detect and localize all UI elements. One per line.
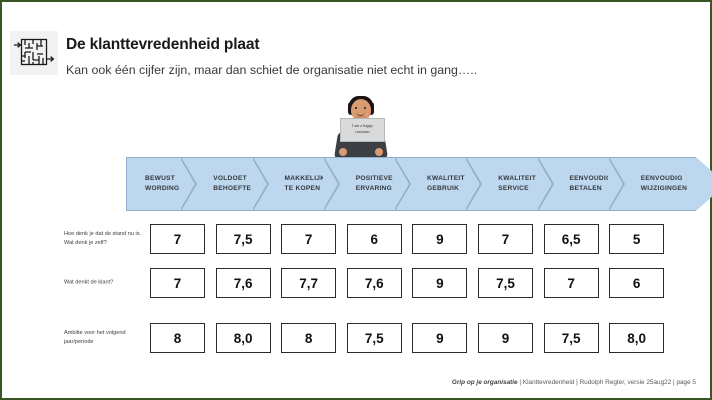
score-cell[interactable]: 7 bbox=[478, 224, 533, 254]
slide-footer: Grip op je organisatie | Klanttevredenhe… bbox=[452, 379, 696, 386]
journey-stage-2[interactable]: VOLDOET BEHOEFTE bbox=[197, 157, 268, 211]
journey-stage-label: EENVOUDIG WIJZIGINGEN bbox=[625, 174, 687, 194]
score-cell[interactable]: 8 bbox=[150, 323, 205, 353]
score-cell[interactable]: 7 bbox=[544, 268, 599, 298]
page-subtitle: Kan ook één cijfer zijn, maar dan schiet… bbox=[66, 63, 477, 77]
journey-stage-label: KWALITEIT SERVICE bbox=[482, 174, 536, 194]
score-cell[interactable]: 7,5 bbox=[216, 224, 271, 254]
score-cell[interactable]: 7 bbox=[281, 224, 336, 254]
score-cell[interactable]: 5 bbox=[609, 224, 664, 254]
photo-eye-right bbox=[364, 107, 366, 109]
score-row-label: Wat denkt de klant? bbox=[64, 278, 146, 287]
score-cell[interactable]: 6,5 bbox=[544, 224, 599, 254]
journey-stage-label: POSITIEVE ERVARING bbox=[340, 174, 393, 194]
score-cell[interactable]: 7,5 bbox=[478, 268, 533, 298]
score-cell[interactable]: 7,5 bbox=[347, 323, 402, 353]
journey-stage-4[interactable]: POSITIEVE ERVARING bbox=[340, 157, 411, 211]
journey-stage-label: VOLDOET BEHOEFTE bbox=[197, 174, 251, 194]
journey-stage-1[interactable]: BEWUST WORDING bbox=[126, 157, 197, 211]
band-arrow-tip bbox=[696, 157, 712, 211]
photo-hand-left bbox=[339, 148, 347, 156]
score-cell[interactable]: 8,0 bbox=[609, 323, 664, 353]
journey-stage-8[interactable]: EENVOUDIG WIJZIGINGEN bbox=[625, 157, 696, 211]
score-cell[interactable]: 7,6 bbox=[216, 268, 271, 298]
slide: De klanttevredenheid plaat Kan ook één c… bbox=[0, 0, 712, 400]
happy-customer-sign: I am a happy customer bbox=[340, 118, 385, 142]
score-row: Wat denkt de klant?77,67,77,697,576 bbox=[2, 268, 712, 298]
score-cell[interactable]: 7 bbox=[150, 268, 205, 298]
sign-line-2: customer bbox=[355, 130, 370, 136]
journey-stage-label: EENVOUDIG BETALEN bbox=[554, 174, 612, 194]
score-cell[interactable]: 7,6 bbox=[347, 268, 402, 298]
journey-stage-5[interactable]: KWALITEIT GEBRUIK bbox=[411, 157, 482, 211]
journey-stage-7[interactable]: EENVOUDIG BETALEN bbox=[554, 157, 625, 211]
score-cell[interactable]: 6 bbox=[347, 224, 402, 254]
score-cell[interactable]: 7 bbox=[150, 224, 205, 254]
journey-stage-label: KWALITEIT GEBRUIK bbox=[411, 174, 465, 194]
footer-rest: | Klanttevredenheid | Rudolph Regter, ve… bbox=[518, 379, 696, 386]
footer-brand: Grip op je organisatie bbox=[452, 379, 518, 386]
score-cell[interactable]: 8 bbox=[281, 323, 336, 353]
score-cell[interactable]: 9 bbox=[412, 224, 467, 254]
journey-stage-6[interactable]: KWALITEIT SERVICE bbox=[482, 157, 553, 211]
score-cell[interactable]: 9 bbox=[478, 323, 533, 353]
score-cell[interactable]: 7,5 bbox=[544, 323, 599, 353]
journey-stage-label: BEWUST WORDING bbox=[127, 174, 179, 194]
maze-logo-icon bbox=[10, 31, 58, 75]
page-title: De klanttevredenheid plaat bbox=[66, 36, 259, 54]
journey-stage-label: MAKKELIJK TE KOPEN bbox=[269, 174, 326, 194]
photo-hand-right bbox=[375, 148, 383, 156]
score-row: Hoe denk je dat de stand nu is. Wat denk… bbox=[2, 224, 712, 254]
score-cell[interactable]: 7,7 bbox=[281, 268, 336, 298]
score-row-label: Hoe denk je dat de stand nu is. Wat denk… bbox=[64, 230, 146, 248]
score-cell[interactable]: 6 bbox=[609, 268, 664, 298]
customer-journey-band: BEWUST WORDINGVOLDOET BEHOEFTEMAKKELIJK … bbox=[126, 157, 696, 211]
photo-eye-left bbox=[355, 107, 357, 109]
score-cell[interactable]: 9 bbox=[412, 323, 467, 353]
score-row-label: Ambitie voor het volgend jaar/periode bbox=[64, 329, 146, 347]
score-cell[interactable]: 9 bbox=[412, 268, 467, 298]
score-cell[interactable]: 8,0 bbox=[216, 323, 271, 353]
journey-stage-3[interactable]: MAKKELIJK TE KOPEN bbox=[269, 157, 340, 211]
score-row: Ambitie voor het volgend jaar/periode88,… bbox=[2, 323, 712, 353]
